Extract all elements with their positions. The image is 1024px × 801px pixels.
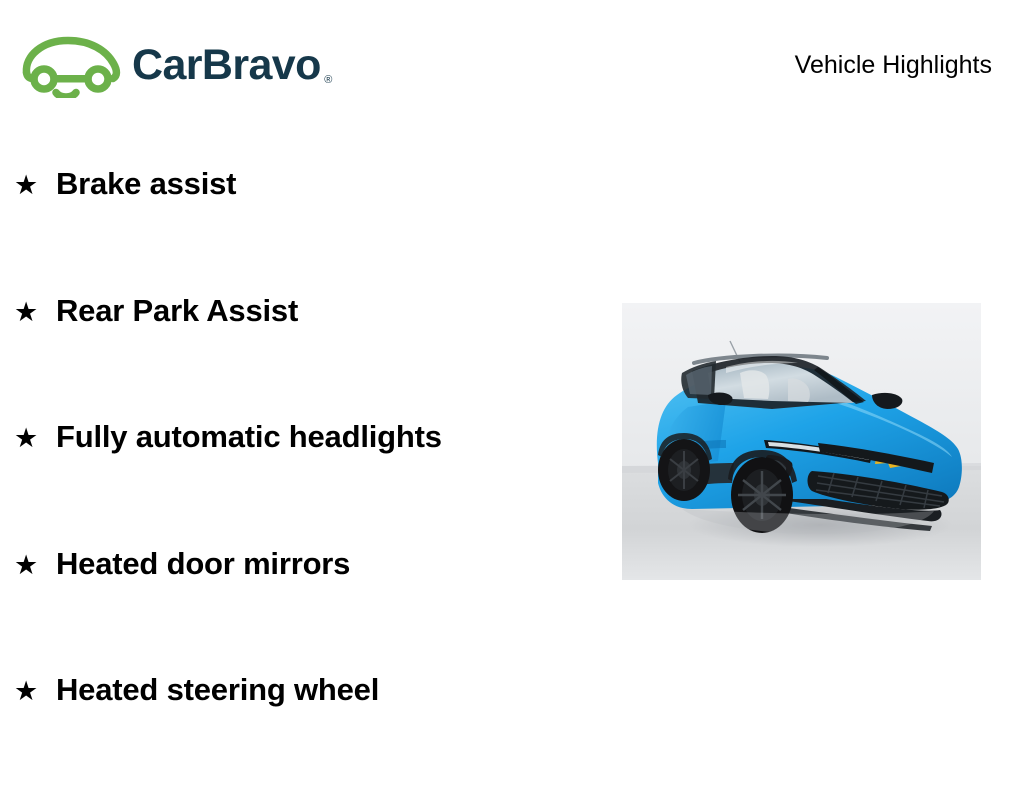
page-header: CarBravo ® Vehicle Highlights (0, 0, 1024, 130)
vehicle-photo (622, 303, 981, 580)
highlight-label: Rear Park Assist (56, 295, 298, 326)
list-item: ★ Heated door mirrors (0, 548, 620, 675)
list-item: ★ Heated steering wheel (0, 674, 620, 801)
star-bullet-icon: ★ (14, 678, 56, 705)
brand-wordmark: CarBravo ® (132, 44, 321, 87)
star-bullet-icon: ★ (14, 552, 56, 579)
list-item: ★ Fully automatic headlights (0, 421, 620, 548)
car-outline-icon (16, 32, 128, 98)
star-bullet-icon: ★ (14, 299, 56, 326)
trademark-icon: ® (324, 75, 332, 86)
star-bullet-icon: ★ (14, 172, 56, 199)
highlight-label: Heated door mirrors (56, 548, 350, 579)
highlight-label: Heated steering wheel (56, 674, 379, 705)
brand-logo[interactable]: CarBravo ® (16, 30, 321, 100)
brand-wordmark-text: CarBravo (132, 41, 321, 89)
vehicle-highlights-list: ★ Brake assist ★ Rear Park Assist ★ Full… (0, 168, 620, 801)
highlight-label: Brake assist (56, 168, 236, 199)
page-title: Vehicle Highlights (795, 52, 992, 80)
star-bullet-icon: ★ (14, 425, 56, 452)
list-item: ★ Brake assist (0, 168, 620, 295)
list-item: ★ Rear Park Assist (0, 295, 620, 422)
highlight-label: Fully automatic headlights (56, 421, 442, 452)
